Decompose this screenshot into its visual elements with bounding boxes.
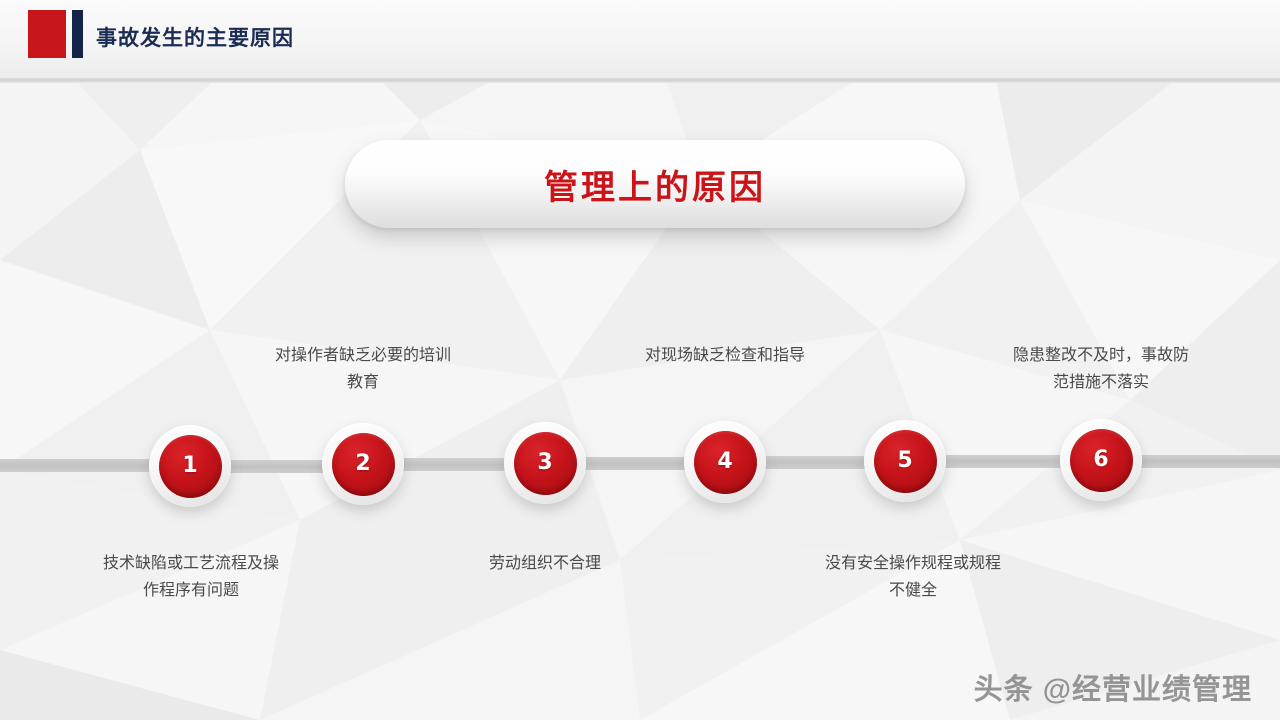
timeline-node-6-disc: 6 [1070, 429, 1133, 492]
watermark: 头条 @经营业绩管理 [974, 666, 1252, 708]
timeline-node-3[interactable]: 3 [504, 422, 586, 504]
timeline-caption-5: 没有安全操作规程或规程 不健全 [780, 550, 1046, 604]
timeline-node-4-number: 4 [717, 451, 732, 473]
timeline-node-3-disc: 3 [514, 432, 577, 495]
timeline-node-2[interactable]: 2 [322, 423, 404, 505]
section-title-text: 管理上的原因 [345, 140, 965, 228]
timeline-connector-right-edge [1132, 455, 1280, 468]
timeline-caption-3: 劳动组织不合理 [412, 550, 678, 577]
timeline-node-4[interactable]: 4 [684, 421, 766, 503]
timeline-connector-1-2 [222, 460, 332, 473]
timeline-node-6-number: 6 [1093, 449, 1108, 471]
section-title-pill: 管理上的原因 [345, 140, 965, 228]
timeline-node-1-number: 1 [182, 455, 197, 477]
timeline-caption-2: 对操作者缺乏必要的培训 教育 [230, 342, 496, 396]
timeline-node-5-number: 5 [897, 450, 912, 472]
header-divider [0, 78, 1280, 83]
header-bar: 事故发生的主要原因 [0, 0, 1280, 80]
page-title: 事故发生的主要原因 [96, 22, 294, 56]
header-navy-bar [72, 10, 83, 58]
timeline-node-2-disc: 2 [332, 433, 395, 496]
timeline-connector-2-3 [395, 458, 513, 471]
timeline-node-4-disc: 4 [694, 431, 757, 494]
timeline-connector-4-5 [757, 456, 873, 469]
slide-canvas: 事故发生的主要原因 管理上的原因 1 技术缺陷或工艺流程及操 作程序有问题 2 … [0, 0, 1280, 720]
timeline-node-5[interactable]: 5 [864, 420, 946, 502]
timeline-diagram: 1 技术缺陷或工艺流程及操 作程序有问题 2 对操作者缺乏必要的培训 教育 3 … [0, 0, 1280, 720]
timeline-caption-6: 隐患整改不及时，事故防 范措施不落实 [968, 342, 1234, 396]
timeline-node-1[interactable]: 1 [149, 425, 231, 507]
timeline-node-3-number: 3 [537, 452, 552, 474]
timeline-connector-5-6 [937, 455, 1069, 468]
timeline-node-5-disc: 5 [874, 430, 937, 493]
timeline-connector-left-edge [0, 459, 160, 472]
timeline-connector-3-4 [577, 457, 693, 470]
timeline-node-6[interactable]: 6 [1060, 419, 1142, 501]
timeline-caption-4: 对现场缺乏检查和指导 [592, 342, 858, 369]
header-red-block [28, 10, 66, 58]
timeline-caption-1: 技术缺陷或工艺流程及操 作程序有问题 [58, 550, 324, 604]
timeline-node-1-disc: 1 [159, 435, 222, 498]
timeline-node-2-number: 2 [355, 453, 370, 475]
